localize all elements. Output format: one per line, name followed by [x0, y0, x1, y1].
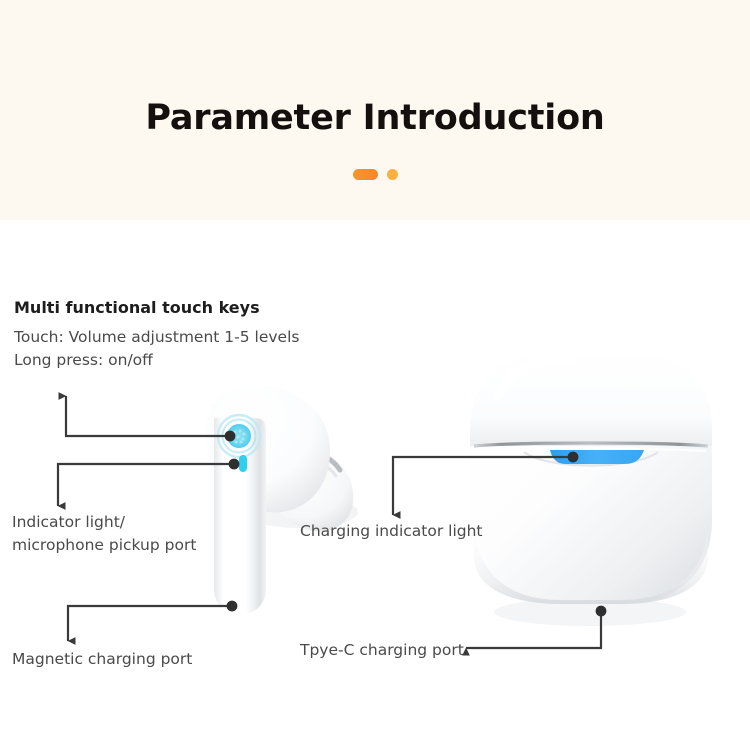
pagination-active-indicator[interactable]	[353, 169, 378, 180]
callout-charging-indicator-light: Charging indicator light	[300, 521, 483, 542]
callout-touch-keys-heading: Multi functional touch keys	[14, 297, 260, 318]
page-title: Parameter Introduction	[0, 98, 750, 138]
slide-pagination	[0, 169, 750, 180]
callout-touch-keys-line-1: Touch: Volume adjustment 1-5 levels	[14, 327, 299, 348]
callout-indicator-light-line-2: microphone pickup port	[12, 535, 196, 556]
callout-indicator-light-line-1: Indicator light/	[12, 512, 125, 533]
callout-typec-charging-port: Tpye-C charging port	[300, 640, 464, 661]
callout-touch-keys-line-2: Long press: on/off	[14, 350, 153, 371]
header-banner: Parameter Introduction	[0, 0, 750, 220]
pagination-inactive-indicator[interactable]	[387, 169, 398, 180]
callout-magnetic-charging-port: Magnetic charging port	[12, 649, 192, 670]
